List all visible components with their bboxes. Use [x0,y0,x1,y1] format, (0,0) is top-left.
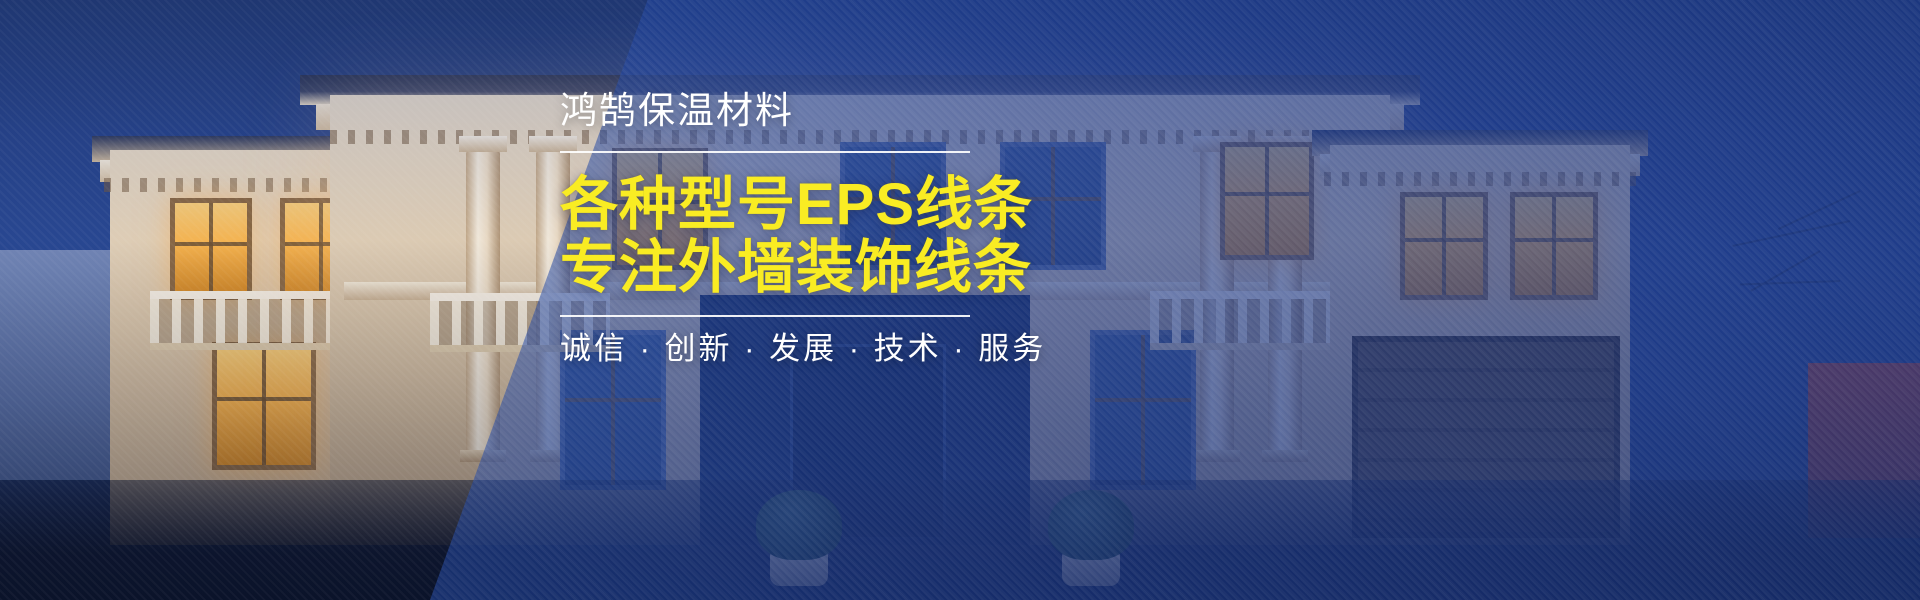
shrub [1048,490,1134,560]
window [212,342,316,470]
window [1400,192,1488,300]
slogan: 诚信 · 创新 · 发展 · 技术 · 服务 [560,333,1030,364]
headline-line-2: 专注外墙装饰线条 [560,238,1030,297]
divider-bottom [560,315,970,317]
brand-title: 鸿鹄保温材料 [560,92,1030,129]
balustrade [1150,291,1340,350]
window [170,198,252,300]
headline-line-1: 各种型号EPS线条 [560,175,1030,234]
window [1510,192,1598,300]
promo-banner: 鸿鹄保温材料 各种型号EPS线条 专注外墙装饰线条 诚信 · 创新 · 发展 ·… [0,0,1920,600]
window [1220,142,1314,260]
divider-top [560,151,970,153]
window [1090,330,1196,490]
banner-content: 鸿鹄保温材料 各种型号EPS线条 专注外墙装饰线条 诚信 · 创新 · 发展 ·… [560,92,1030,364]
shrub [756,490,842,560]
tree-branch [1700,180,1890,340]
entry-steps [660,542,1080,600]
right-dentil-moulding [1324,172,1636,186]
